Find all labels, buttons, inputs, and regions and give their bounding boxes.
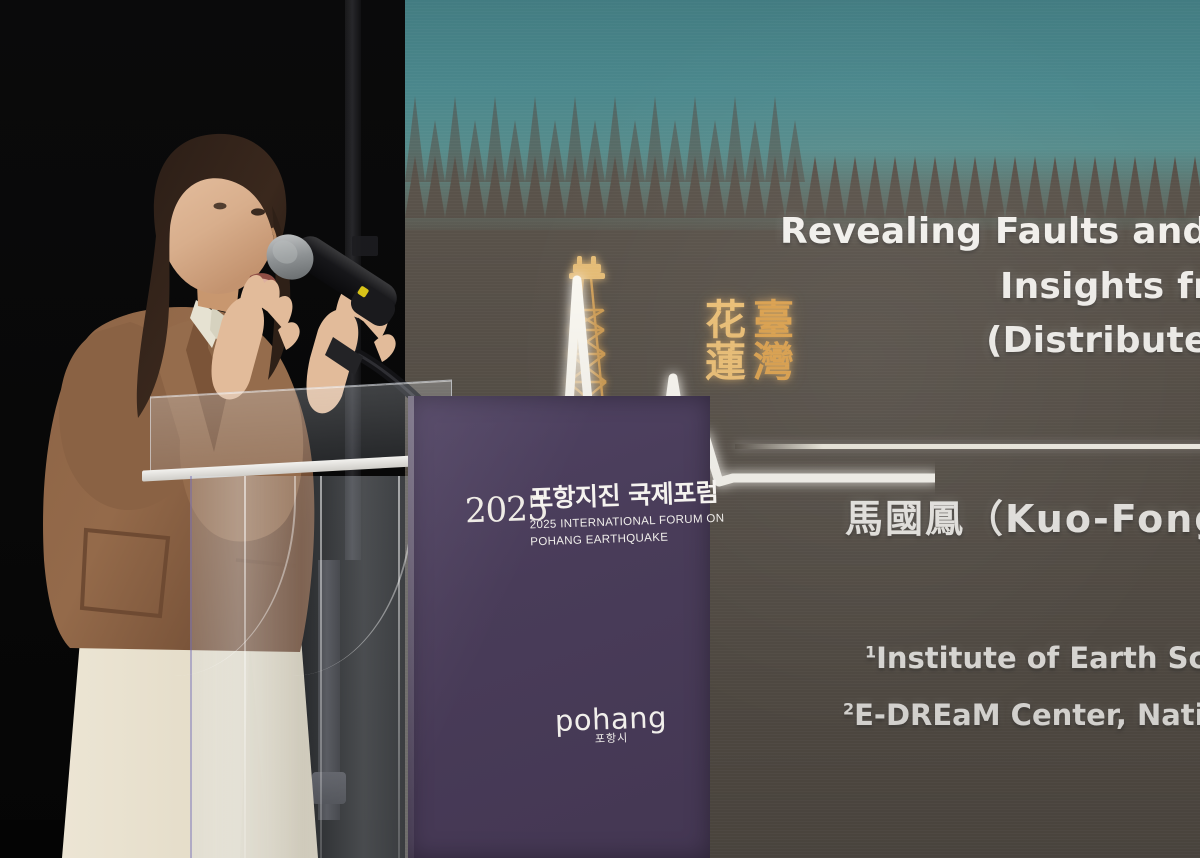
affil-1-superscript: 1 <box>865 642 876 661</box>
podium-column-curve <box>292 476 414 676</box>
podium-title-korean: 포항지진 국제포럼 <box>529 473 718 516</box>
cjk-lian: 蓮 <box>705 342 747 384</box>
slide-title-line-3: (Distributed Acoust <box>780 314 1200 369</box>
slide-title-line-2: Insights from <box>780 260 1200 315</box>
conference-photo-scene: 花 臺 蓮 灣 Revealing Faults and Seis Insigh… <box>0 0 1200 858</box>
slide-affiliation-line-2: 2E-DREaM Center, National <box>843 687 1200 744</box>
slide-affiliations: 1Institute of Earth Scie 2E-DREaM Center… <box>865 630 1200 743</box>
slide-author-name: 馬國鳳（Kuo-Fong Ma <box>845 497 1200 541</box>
slide-title-line-1: Revealing Faults and Seis <box>780 205 1200 260</box>
slide-affiliation-line-1: 1Institute of Earth Scie <box>865 630 1200 687</box>
affil-1-text: Institute of Earth Scie <box>876 641 1200 675</box>
podium-title-english: 2025 INTERNATIONAL FORUM ON POHANG EARTH… <box>529 511 725 553</box>
cjk-hua: 花 <box>705 300 747 342</box>
affil-2-superscript: 2 <box>843 699 854 718</box>
slide-author: 馬國鳳（Kuo-Fong Ma1 <box>845 488 1200 543</box>
slide-title: Revealing Faults and Seis Insights from … <box>780 205 1200 369</box>
podium-column-curve <box>174 476 296 676</box>
pohang-city-logo: pohang 포항시 <box>554 700 668 748</box>
podium-front-panel <box>408 396 710 858</box>
podium: 2025 포항지진 국제포럼 2025 INTERNATIONAL FORUM … <box>150 388 710 858</box>
podium-panel-sheen <box>408 396 710 858</box>
slide-divider-line <box>735 444 1200 449</box>
affil-2-text: E-DREaM Center, National <box>854 698 1200 732</box>
